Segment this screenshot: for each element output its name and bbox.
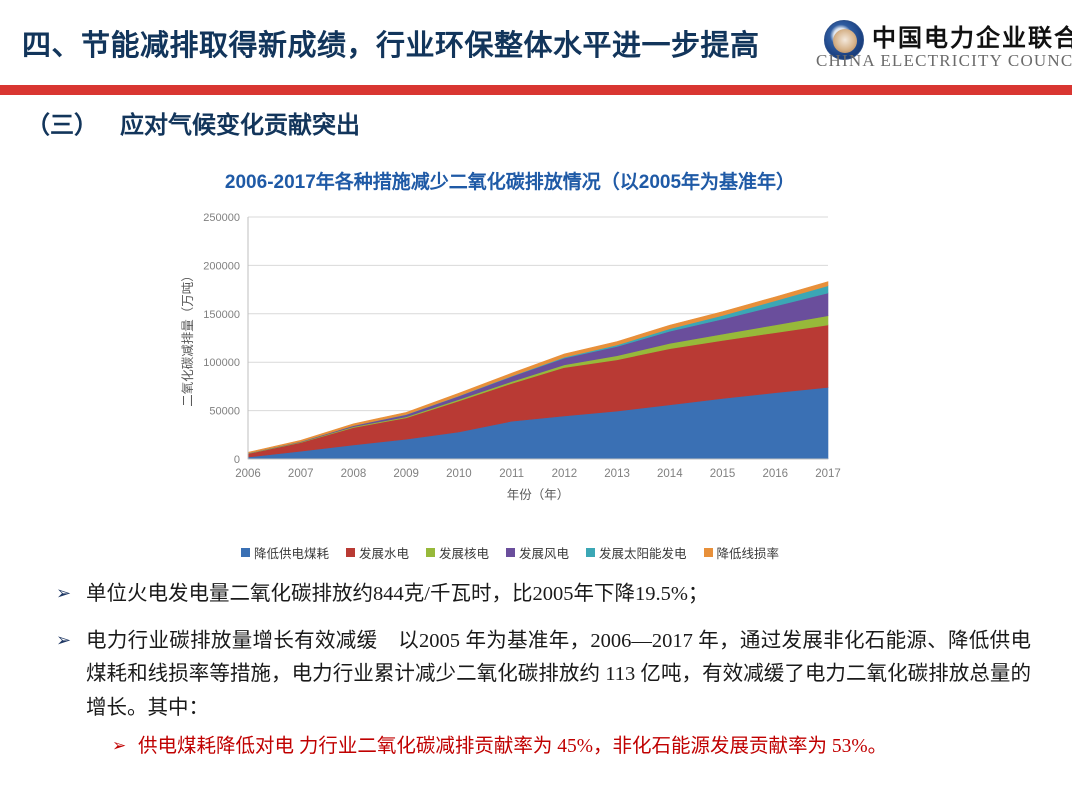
sub-bullet-marker-icon: ➢ — [112, 731, 126, 760]
y-axis-title: 二氧化碳减排量（万吨） — [181, 269, 195, 407]
legend-item[interactable]: 降低线损率 — [704, 543, 780, 562]
legend-label: 发展核电 — [439, 543, 489, 562]
section-heading: （三）应对气候变化贡献突出 — [26, 105, 360, 140]
y-axis-tick-label: 200000 — [203, 260, 240, 272]
logo-english-name: CHINA ELECTRICITY COUNCIL — [816, 51, 1072, 71]
section-title: 应对气候变化贡献突出 — [120, 112, 360, 139]
legend-swatch-icon — [241, 548, 250, 557]
organization-logo: 中国电力企业联合会 CHINA ELECTRICITY COUNCIL — [814, 18, 1064, 78]
x-axis-tick-label: 2006 — [235, 468, 261, 480]
chart-title: 2006-2017年各种措施减少二氧化碳排放情况（以2005年为基准年） — [170, 167, 850, 194]
legend-swatch-icon — [346, 548, 355, 557]
x-axis-tick-label: 2014 — [657, 468, 683, 480]
legend-label: 发展风电 — [519, 543, 569, 562]
x-axis-tick-label: 2007 — [288, 468, 314, 480]
legend-label: 降低线损率 — [717, 543, 780, 562]
bullet-text: 单位火电发电量二氧化碳排放约844克/千瓦时，比2005年下降19.5%； — [86, 583, 708, 605]
bullet-list: ➢ 单位火电发电量二氧化碳排放约844克/千瓦时，比2005年下降19.5%； … — [0, 578, 1072, 762]
section-number: （三） — [26, 112, 98, 139]
page-title: 四、节能减排取得新成绩，行业环保整体水平进一步提高 — [22, 22, 760, 64]
logo-chinese-name: 中国电力企业联合会 — [872, 18, 1072, 53]
bullet-text: 电力行业碳排放量增长有效减缓 以2005 年为基准年，2006—2017 年，通… — [86, 630, 1031, 718]
y-axis-tick-label: 100000 — [203, 357, 240, 369]
x-axis-tick-label: 2013 — [604, 468, 630, 480]
y-axis-tick-label: 50000 — [209, 406, 240, 418]
bullet-marker-icon: ➢ — [56, 625, 71, 657]
x-axis-tick-label: 2008 — [341, 468, 367, 480]
x-axis-title: 年份（年） — [507, 488, 570, 502]
legend-item[interactable]: 发展太阳能发电 — [586, 543, 687, 562]
slide-header: 四、节能减排取得新成绩，行业环保整体水平进一步提高 中国电力企业联合会 CHIN… — [0, 0, 1072, 92]
x-axis-tick-label: 2015 — [710, 468, 736, 480]
sub-bullet-item: ➢ 供电煤耗降低对电 力行业二氧化碳减排贡献率为 45%，非化石能源发展贡献率为… — [112, 731, 1038, 762]
legend-label: 发展太阳能发电 — [599, 543, 687, 562]
bullet-item: ➢ 电力行业碳排放量增长有效减缓 以2005 年为基准年，2006—2017 年… — [56, 625, 1031, 725]
legend-item[interactable]: 发展水电 — [346, 543, 409, 562]
x-axis-tick-label: 2011 — [499, 468, 524, 480]
chart-plot-area: 0500001000001500002000002500002006200720… — [170, 207, 850, 517]
chart-panel: 2006-2017年各种措施减少二氧化碳排放情况（以2005年为基准年） 050… — [170, 155, 850, 570]
x-axis-tick-label: 2009 — [393, 468, 419, 480]
legend-item[interactable]: 降低供电煤耗 — [241, 543, 329, 562]
legend-swatch-icon — [704, 548, 713, 557]
x-axis-tick-label: 2010 — [446, 468, 472, 480]
header-divider — [0, 85, 1072, 95]
chart-legend: 降低供电煤耗发展水电发展核电发展风电发展太阳能发电降低线损率 — [170, 543, 850, 562]
legend-label: 降低供电煤耗 — [254, 543, 329, 562]
legend-swatch-icon — [506, 548, 515, 557]
x-axis-tick-label: 2016 — [762, 468, 788, 480]
legend-item[interactable]: 发展核电 — [426, 543, 489, 562]
y-axis-tick-label: 150000 — [203, 309, 240, 321]
y-axis-tick-label: 0 — [234, 454, 240, 466]
legend-swatch-icon — [426, 548, 435, 557]
bullet-marker-icon: ➢ — [56, 578, 71, 610]
y-axis-tick-label: 250000 — [203, 212, 240, 224]
sub-bullet-text: 供电煤耗降低对电 力行业二氧化碳减排贡献率为 45%，非化石能源发展贡献率为 5… — [138, 736, 887, 757]
bullet-item: ➢ 单位火电发电量二氧化碳排放约844克/千瓦时，比2005年下降19.5%； — [56, 578, 1026, 611]
x-axis-tick-label: 2017 — [815, 468, 841, 480]
legend-label: 发展水电 — [359, 543, 409, 562]
stacked-area-chart: 0500001000001500002000002500002006200720… — [170, 207, 850, 517]
legend-swatch-icon — [586, 548, 595, 557]
x-axis-tick-label: 2012 — [552, 468, 578, 480]
legend-item[interactable]: 发展风电 — [506, 543, 569, 562]
